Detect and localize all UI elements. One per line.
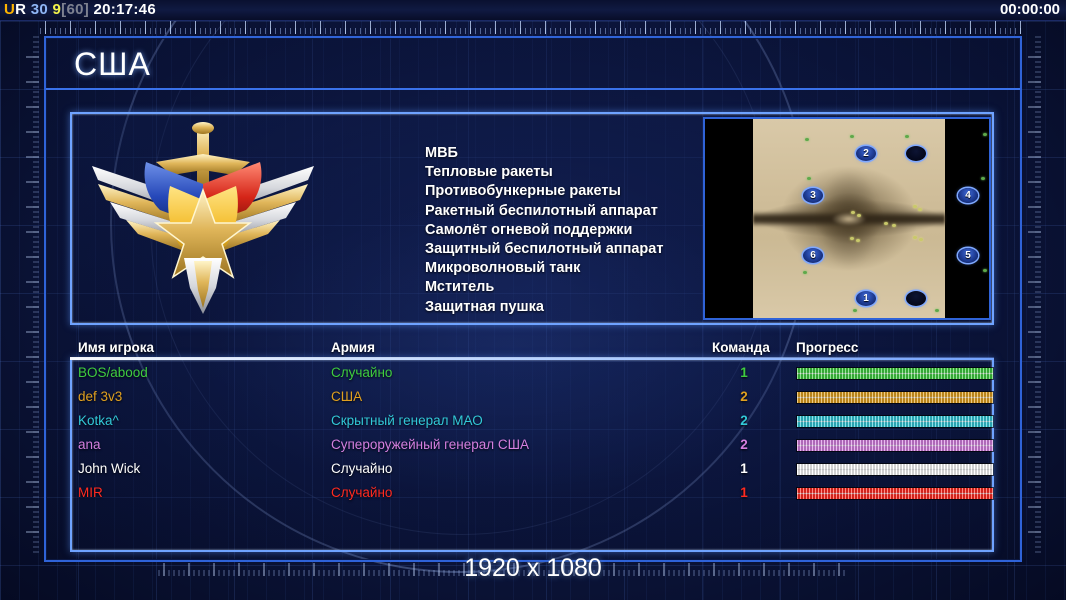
player-row[interactable]: MIRСлучайно1 bbox=[78, 485, 994, 509]
player-progress-track bbox=[796, 391, 994, 404]
player-army: Случайно bbox=[331, 485, 392, 500]
player-row[interactable]: anaСупероружейный генерал США2 bbox=[78, 437, 994, 461]
player-army: Случайно bbox=[331, 461, 392, 476]
player-team: 1 bbox=[733, 461, 755, 476]
player-army: Случайно bbox=[331, 365, 392, 380]
player-army: Скрытный генерал МАО bbox=[331, 413, 483, 428]
player-progress-fill bbox=[797, 464, 993, 475]
ping-value: 30 bbox=[31, 1, 48, 18]
player-row[interactable]: def 3v3США2 bbox=[78, 389, 994, 413]
player-army: США bbox=[331, 389, 362, 404]
player-progress-fill bbox=[797, 440, 993, 451]
upload-indicator: U bbox=[4, 1, 15, 18]
player-team: 2 bbox=[733, 413, 755, 428]
player-row[interactable]: BOS/aboodСлучайно1 bbox=[78, 365, 994, 389]
player-progress-fill bbox=[797, 368, 993, 379]
player-name: MIR bbox=[78, 485, 103, 500]
player-progress-track bbox=[796, 487, 994, 500]
match-timer: 00:00:00 bbox=[1000, 1, 1060, 18]
player-team: 2 bbox=[733, 437, 755, 452]
system-clock: 20:17:46 bbox=[94, 1, 156, 18]
player-name: John Wick bbox=[78, 461, 140, 476]
player-progress-track bbox=[796, 367, 994, 380]
player-name: def 3v3 bbox=[78, 389, 122, 404]
player-progress-track bbox=[796, 463, 994, 476]
player-name: ana bbox=[78, 437, 101, 452]
resolution-label: 1920 x 1080 bbox=[0, 554, 1066, 583]
player-row[interactable]: John WickСлучайно1 bbox=[78, 461, 994, 485]
player-team: 2 bbox=[733, 389, 755, 404]
player-rows: BOS/aboodСлучайно1def 3v3США2Kotka^Скрыт… bbox=[0, 0, 1066, 600]
player-name: Kotka^ bbox=[78, 413, 119, 428]
fps-value: 9 bbox=[53, 1, 62, 18]
top-status-bar: UR 30 9[60] 20:17:46 00:00:00 bbox=[0, 0, 1066, 21]
network-status-readout: UR 30 9[60] 20:17:46 bbox=[4, 1, 156, 18]
player-name: BOS/abood bbox=[78, 365, 148, 380]
player-progress-fill bbox=[797, 416, 993, 427]
download-indicator: R bbox=[15, 1, 26, 18]
player-team: 1 bbox=[733, 485, 755, 500]
player-progress-track bbox=[796, 439, 994, 452]
player-progress-fill bbox=[797, 488, 993, 499]
player-progress-fill bbox=[797, 392, 993, 403]
player-progress-track bbox=[796, 415, 994, 428]
fps-cap-value: [60] bbox=[61, 1, 89, 18]
player-army: Супероружейный генерал США bbox=[331, 437, 529, 452]
player-team: 1 bbox=[733, 365, 755, 380]
player-row[interactable]: Kotka^Скрытный генерал МАО2 bbox=[78, 413, 994, 437]
